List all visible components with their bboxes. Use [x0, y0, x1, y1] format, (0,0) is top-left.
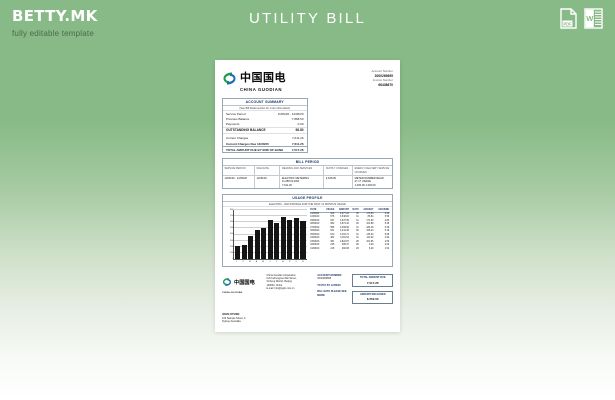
remit-company-cn: 中国国电	[234, 280, 255, 286]
guodian-logo-icon	[222, 71, 237, 91]
chart-x-tick-label: J	[234, 261, 239, 263]
page-title: UTILITY BILL	[0, 10, 615, 27]
usage-table-cell: 29	[350, 248, 360, 252]
svg-text:W: W	[586, 14, 594, 23]
bp-cell-due-date: 12/30/20	[255, 176, 280, 188]
invoice-number-label: Invoice Number	[372, 79, 393, 83]
chart-y-tick-label: 700	[230, 215, 233, 217]
chart-y-tick-label: 200	[230, 246, 233, 248]
chart-bar	[294, 218, 299, 259]
usage-table-cell: 218	[323, 248, 335, 252]
total-amount-due-row: TOTAL AMOUNT DUE BY END OF BANK 7,517.26	[223, 146, 307, 152]
bill-period-header-row: SERVICE PERIOD DUE DATE READING AND SERV…	[223, 166, 392, 174]
chart-bar	[287, 220, 292, 259]
company-name-cn: 中国国电	[240, 71, 286, 84]
remittance-amount-boxes: TOTAL AMOUNT DUE 7,517.26 AMOUNT ENCLOSE…	[352, 274, 393, 307]
customer-address-block: JOHN CITIZEN 123 Sample Street, 0 Sydney…	[222, 313, 393, 323]
chart-bar	[274, 223, 279, 259]
bp-header-cell: DUE DATE	[255, 166, 280, 174]
customer-address-line: Sydney Australia	[222, 320, 393, 323]
chart-x-tick-label: F	[241, 261, 246, 263]
usage-table-cell: 282.08	[335, 248, 350, 252]
chart-bar	[281, 217, 286, 259]
chart-y-axis: 0100200300400500600700800	[227, 210, 234, 259]
outstanding-balance-label: OUTSTANDING BALANCE	[226, 128, 266, 132]
bp-cell-readings: ELECTRIC METERING 11,258.00 kWh 7,611.26	[280, 176, 324, 188]
invoice-number-value: 66438670	[372, 83, 393, 88]
chart-x-tick-label: A	[254, 261, 259, 263]
amount-enclosed-value: $ 252.00	[354, 297, 391, 301]
chart-bar	[300, 221, 305, 260]
chart-plot-area: 0100200300400500600700800	[233, 210, 307, 260]
service-period-label: Service Period	[226, 112, 246, 116]
usage-profile-title: USAGE PROFILE	[223, 195, 392, 202]
account-summary-box: ACCOUNT SUMMARY (See Bill Detail section…	[222, 98, 308, 153]
remittance-section: 中国国电 CHINA GUODIAN China Guodian Corpora…	[222, 274, 393, 307]
account-meta: Account Number 3000269695 Invoice Number…	[372, 68, 393, 87]
guodian-logo-icon	[222, 274, 232, 292]
chart-y-tick-label: 100	[230, 252, 233, 254]
table-row: 12/06/20 - 12/06/20 12/30/20 ELECTRIC ME…	[223, 175, 392, 188]
current-charges-value: 7,611.26	[292, 136, 303, 140]
usage-bar-chart: 0100200300400500600700800 JFMAMJJASON	[225, 209, 308, 263]
remit-email: E-mail: info@cgdc.com.cn	[267, 287, 314, 290]
word-file-icon[interactable]: W	[584, 8, 603, 34]
pdf-file-icon[interactable]: PDF	[560, 8, 577, 34]
usage-table-cell: 01/06/20	[310, 248, 323, 252]
chart-x-tick-label: N	[300, 261, 305, 263]
usage-data-table: DATE USAGE AMOUNT DAYS AVG/DAY AVG/KWH 1…	[308, 209, 391, 263]
total-amount-due-label: TOTAL AMOUNT DUE BY END OF BANK	[226, 148, 283, 152]
chart-x-axis: JFMAMJJASON	[234, 261, 306, 263]
bp-cell-service-period: 12/06/20 - 12/06/20	[223, 176, 255, 188]
chart-bar	[242, 245, 247, 259]
amount-enclosed-label: AMOUNT ENCLOSED	[354, 293, 391, 296]
chart-y-tick-label: 600	[230, 221, 233, 223]
usage-profile-box: USAGE PROFILE ELECTRIC - kWh PROFILE FOR…	[222, 194, 393, 267]
bp-header-cell: SUPPLY CHARGES	[324, 166, 353, 174]
total-amount-due-box-value: 7,517.26	[354, 281, 391, 285]
chart-y-tick-label: 500	[230, 227, 233, 229]
total-amount-due-value: 7,517.26	[292, 148, 304, 152]
bp-header-cell: ENERGY DELIVERY SERVICE CHARGES	[353, 166, 392, 174]
payments-value: 0.00	[298, 122, 304, 126]
utility-bill-document[interactable]: 中国国电 CHINA GUODIAN Account Number 300026…	[215, 60, 400, 332]
chart-x-tick-label: M	[261, 261, 266, 263]
template-banner: BETTY.MK fully editable template UTILITY…	[0, 0, 615, 52]
chart-bar	[255, 230, 260, 260]
remittance-logo: 中国国电 CHINA GUODIAN	[222, 274, 263, 307]
svg-text:PDF: PDF	[563, 21, 572, 26]
current-charges-due-value: 7,611.26	[292, 142, 304, 146]
chart-x-tick-label: S	[287, 261, 292, 263]
remittance-address: China Guodian Corporation 6-8 Fuchengmen…	[267, 274, 314, 307]
usage-table-cell: 6.29	[360, 248, 375, 252]
current-charges-due-label: Current Charges Due 12/30/20	[226, 142, 269, 146]
remittance-pay-fields: ACCOUNT NUMBER 3000269695 TO PAY BY 12/3…	[317, 274, 348, 307]
chart-y-tick-label: 0	[232, 258, 233, 260]
chart-x-tick-label: J	[267, 261, 272, 263]
summary-row: Current Charges Due 12/30/20 7,611.26	[223, 141, 307, 146]
chart-y-tick-label: 400	[230, 233, 233, 235]
chart-x-tick-label: A	[280, 261, 285, 263]
bp-cell-delivery: METER NUMBER READ: 27.17 USAGE 1,025.00 …	[353, 176, 392, 188]
usage-table-body: 11/06/206294,877.2530173.505.2610/06/206…	[310, 212, 391, 251]
company-logo: 中国国电 CHINA GUODIAN	[222, 68, 286, 93]
bp-header-cell: READING AND SERVICES	[280, 166, 324, 174]
amount-enclosed-box[interactable]: AMOUNT ENCLOSED $ 252.00	[352, 291, 393, 304]
table-row: 01/06/20218282.08296.291.54	[310, 248, 391, 252]
previous-balance-label: Previous Balance	[226, 117, 249, 121]
chart-x-tick-label: O	[294, 261, 299, 263]
payments-label: Payments	[226, 122, 239, 126]
chart-x-tick-label: J	[274, 261, 279, 263]
bill-period-title: BILL PERIOD	[223, 159, 392, 166]
chart-bar	[248, 236, 253, 259]
account-number-value: 3000269695	[372, 74, 393, 79]
brand-tagline: fully editable template	[12, 29, 98, 38]
chart-bars	[235, 210, 306, 259]
chart-x-tick-label: M	[247, 261, 252, 263]
file-format-icons: PDF W	[560, 8, 603, 34]
total-amount-due-box-label: TOTAL AMOUNT DUE	[354, 276, 391, 279]
chart-y-tick-label: 800	[230, 209, 233, 211]
outstanding-balance-value: 98.80	[296, 128, 304, 132]
usage-table-cell: 1.54	[374, 248, 390, 252]
bill-period-box: BILL PERIOD SERVICE PERIOD DUE DATE READ…	[222, 158, 393, 189]
service-period-value: 11/06/20 - 12/06/20	[278, 112, 304, 116]
account-summary-title: ACCOUNT SUMMARY	[223, 99, 307, 106]
chart-bar	[268, 220, 273, 259]
document-letterhead: 中国国电 CHINA GUODIAN Account Number 300026…	[222, 68, 393, 93]
chart-y-tick-label: 300	[230, 240, 233, 242]
chart-bar	[235, 246, 240, 259]
previous-balance-value: 7,868.53	[292, 117, 304, 121]
company-name-en: CHINA GUODIAN	[240, 87, 286, 93]
current-charges-label: Current Charges	[226, 136, 248, 140]
pay-note-label: BILL DATE PLEASE SEE MORE	[317, 290, 348, 297]
chart-bar	[261, 228, 266, 259]
remit-company-en: CHINA GUODIAN	[222, 292, 263, 295]
outstanding-balance-row: OUTSTANDING BALANCE 98.80	[223, 127, 307, 134]
bp-cell-supply: 4,628.00	[324, 176, 353, 188]
bp-header-cell: SERVICE PERIOD	[223, 166, 255, 174]
total-amount-due-box: TOTAL AMOUNT DUE 7,517.26	[352, 274, 393, 287]
